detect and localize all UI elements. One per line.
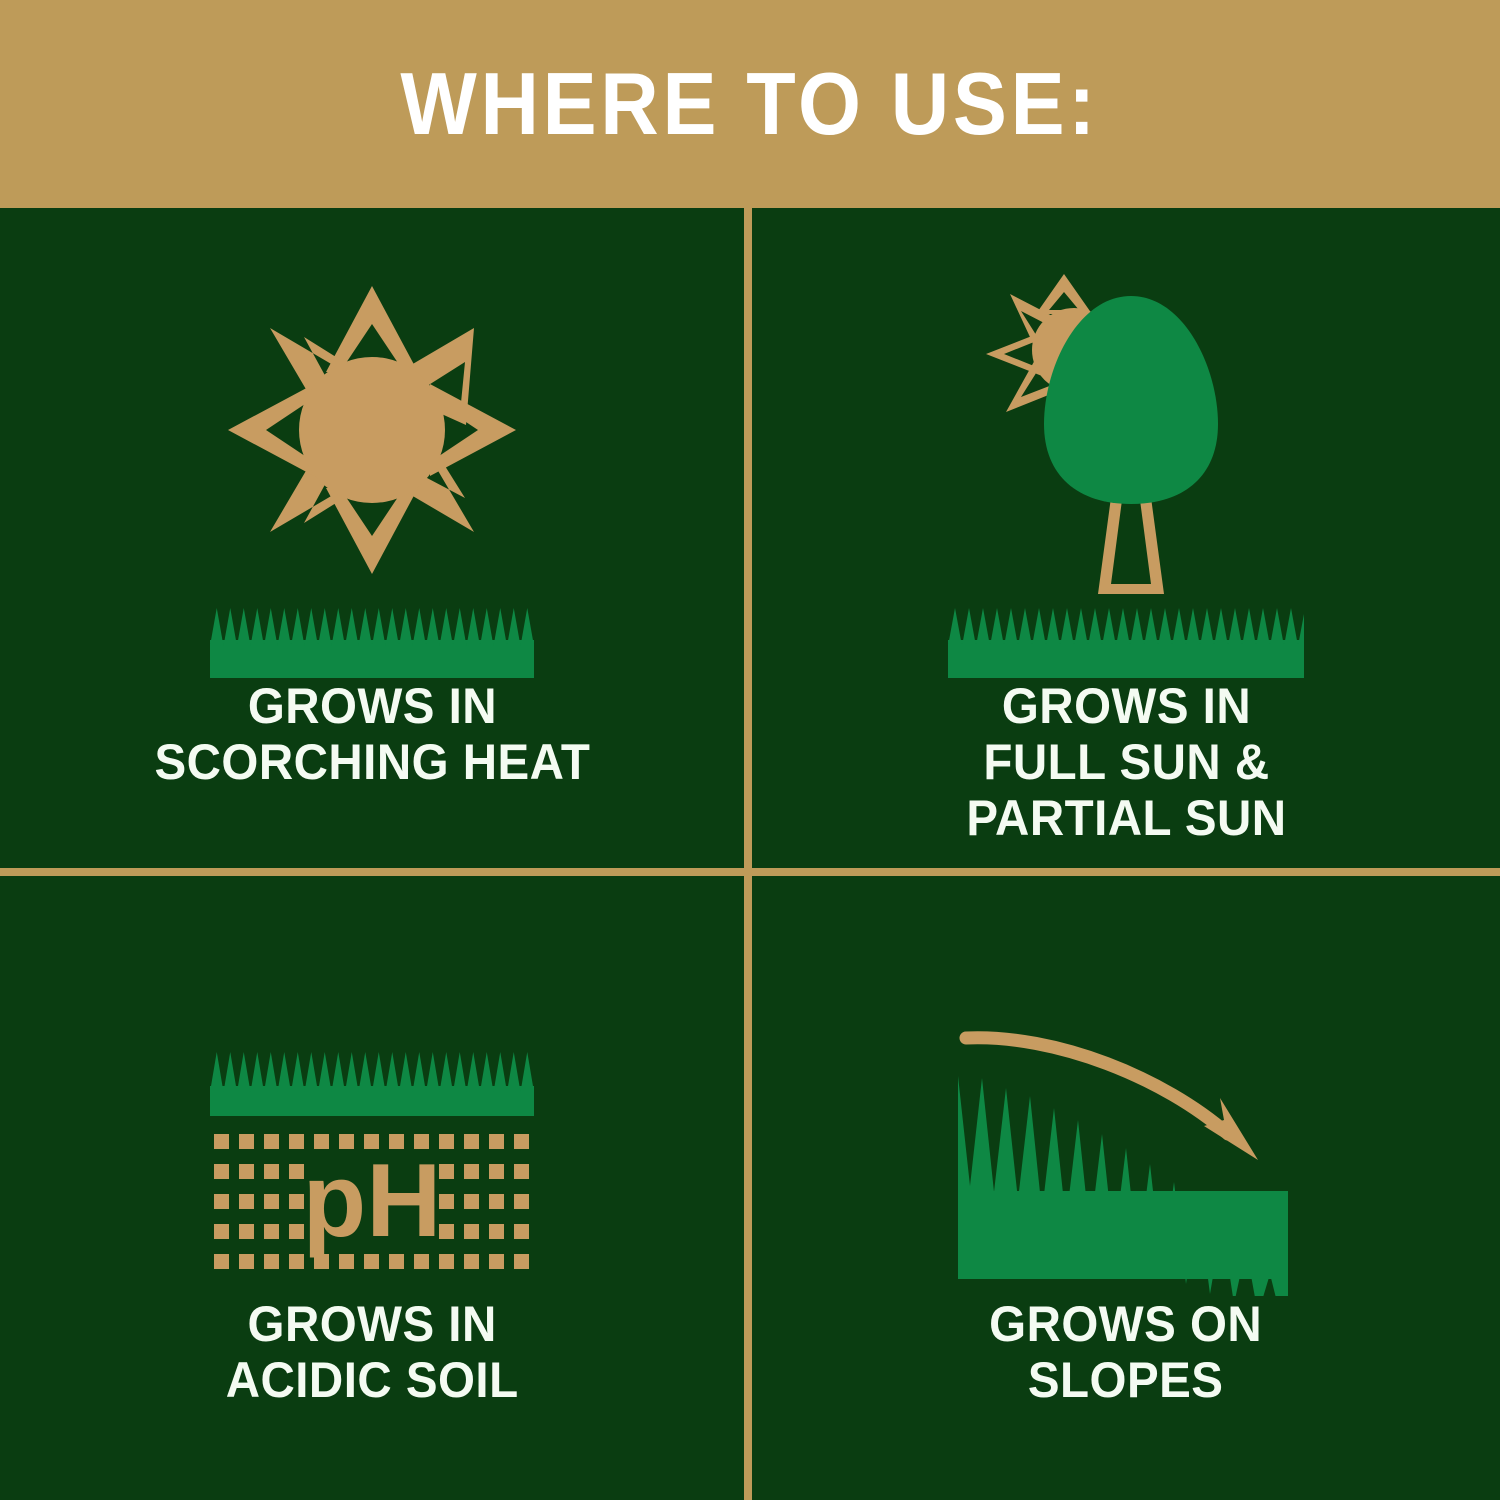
caption-slopes: GROWS ON SLOPES — [990, 1296, 1263, 1408]
ph-label: pH — [303, 1143, 442, 1259]
tree-with-sun-icon — [946, 272, 1306, 602]
panel-full-partial-sun: GROWS IN FULL SUN & PARTIAL SUN — [752, 208, 1500, 868]
caption-line: GROWS IN — [966, 678, 1286, 734]
sun-core — [299, 357, 445, 503]
sloped-grass — [958, 1076, 1288, 1296]
panel-slopes: GROWS ON SLOPES — [752, 876, 1500, 1500]
icon-area-scorching-heat — [0, 208, 744, 678]
vertical-divider — [744, 208, 752, 1500]
infographic-root: WHERE TO USE: — [0, 0, 1500, 1500]
horizontal-divider — [0, 868, 1500, 876]
caption-acidic-soil: GROWS IN ACIDIC SOIL — [226, 1296, 519, 1408]
page-title: WHERE TO USE: — [401, 60, 1100, 148]
caption-full-partial-sun: GROWS IN FULL SUN & PARTIAL SUN — [966, 678, 1286, 846]
caption-line: FULL SUN & — [966, 734, 1286, 790]
caption-line: SCORCHING HEAT — [154, 734, 590, 790]
tree-trunk — [1098, 490, 1164, 594]
sloped-grass-with-arrow-icon — [936, 1016, 1316, 1296]
icon-area-full-partial-sun — [752, 208, 1500, 678]
panel-acidic-soil: pH GROWS IN ACIDIC SOIL — [0, 876, 744, 1500]
icon-area-acidic-soil: pH — [0, 876, 744, 1296]
caption-line: ACIDIC SOIL — [226, 1352, 519, 1408]
grass-strip-icon — [210, 1052, 534, 1116]
caption-scorching-heat: GROWS IN SCORCHING HEAT — [154, 678, 590, 790]
header-banner: WHERE TO USE: — [0, 0, 1500, 208]
caption-line: GROWS IN — [226, 1296, 519, 1352]
caption-line: PARTIAL SUN — [966, 790, 1286, 846]
ph-soil-icon: pH — [202, 1046, 542, 1296]
caption-line: GROWS ON — [990, 1296, 1263, 1352]
grass-strip-icon — [948, 606, 1304, 678]
grass-strip-icon — [210, 606, 534, 678]
caption-line: GROWS IN — [154, 678, 590, 734]
panel-scorching-heat: GROWS IN SCORCHING HEAT — [0, 208, 744, 868]
icon-area-slopes — [752, 876, 1500, 1296]
caption-line: SLOPES — [990, 1352, 1263, 1408]
sun-icon — [222, 280, 522, 580]
